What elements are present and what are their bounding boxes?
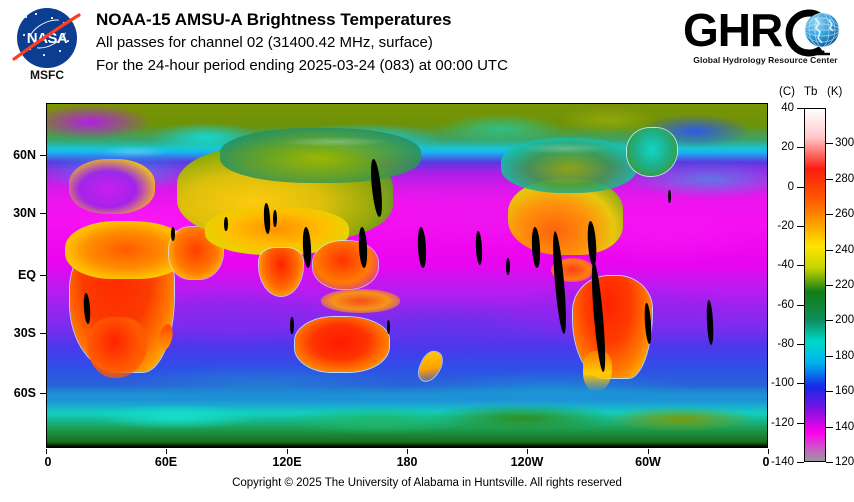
x-axis-tick [648, 449, 649, 454]
colorbar-kelvin-tick-label: 300 [835, 137, 854, 149]
colorbar-celsius-tick-label: -80 [756, 338, 794, 350]
orbital-data-gap [224, 217, 228, 231]
page-title: NOAA-15 AMSU-A Brightness Temperatures [96, 9, 508, 31]
colorbar-kelvin-tick-label: 160 [835, 385, 854, 397]
y-axis-tick [40, 333, 46, 334]
x-axis-label: 180 [397, 455, 418, 469]
header-period-line: For the 24-hour period ending 2025-03-24… [96, 54, 508, 77]
x-axis-label: 120W [511, 455, 544, 469]
colorbar-celsius-tick [797, 383, 804, 384]
colorbar-kelvin-tick [826, 427, 833, 428]
x-axis-label: 120E [272, 455, 301, 469]
y-axis-tick [40, 155, 46, 156]
brightness-temperature-map-page: NASA MSFC NOAA-15 AMSU-A Brightness Temp… [0, 0, 854, 502]
y-axis-label: 30N [0, 206, 36, 220]
colorbar-kelvin-tick-label: 260 [835, 208, 854, 220]
x-axis-tick [166, 449, 167, 454]
orbital-data-gap [273, 210, 277, 227]
colorbar-kelvin-tick [826, 391, 833, 392]
colorbar-kelvin-tick-label: 180 [835, 350, 854, 362]
x-axis-tick [287, 449, 288, 454]
ghrc-logo: GHR Global Hydrology Resource Center [683, 5, 848, 77]
header-block: NOAA-15 AMSU-A Brightness Temperatures A… [96, 9, 508, 77]
colorbar-celsius-tick [797, 108, 804, 109]
y-axis-label: 30S [0, 326, 36, 340]
svg-text:GHR: GHR [683, 5, 783, 56]
colorbar-celsius-tick-label: -120 [756, 417, 794, 429]
colorbar-kelvin-tick [826, 143, 833, 144]
colorbar-celsius-tick-label: -20 [756, 220, 794, 232]
x-axis-label: 0 [45, 455, 52, 469]
ghrc-subtitle: Global Hydrology Resource Center [683, 55, 848, 65]
colorbar-unit-celsius: (C) [779, 86, 795, 98]
colorbar-kelvin-tick-label: 140 [835, 421, 854, 433]
colorbar-kelvin-tick [826, 250, 833, 251]
x-axis-tick [46, 449, 47, 454]
colorbar-kelvin-tick-label: 220 [835, 279, 854, 291]
y-axis-tick [40, 393, 46, 394]
colorbar-kelvin-tick [826, 285, 833, 286]
x-axis-tick [768, 449, 769, 454]
colorbar-gradient[interactable] [804, 108, 826, 462]
world-brightness-temperature-map[interactable] [46, 103, 768, 448]
y-axis-tick [40, 275, 46, 276]
colorbar-kelvin-tick [826, 320, 833, 321]
colorbar-kelvin-tick [826, 179, 833, 180]
x-axis-label: 60W [635, 455, 661, 469]
nasa-swoosh-icon [10, 12, 84, 64]
y-axis-label: 60N [0, 148, 36, 162]
colorbar-celsius-tick [797, 423, 804, 424]
colorbar-celsius-tick [797, 462, 804, 463]
colorbar-kelvin-tick [826, 356, 833, 357]
colorbar-celsius-tick [797, 226, 804, 227]
colorbar-celsius-tick-label: -140 [756, 456, 794, 468]
x-axis-tick [527, 449, 528, 454]
colorbar-quantity-label: Tb [804, 86, 817, 98]
orbital-data-gap [290, 317, 294, 334]
orbital-data-gap [668, 190, 671, 204]
y-axis-tick [40, 213, 46, 214]
colorbar-celsius-tick [797, 187, 804, 188]
ghrc-wordmark-icon: GHR [683, 5, 848, 57]
colorbar-kelvin-tick-label: 280 [835, 173, 854, 185]
colorbar-celsius-tick [797, 147, 804, 148]
colorbar-celsius-tick-label: 40 [756, 102, 794, 114]
colorbar-celsius-tick [797, 305, 804, 306]
colorbar-unit-kelvin: (K) [827, 86, 842, 98]
orbital-data-gap [387, 320, 390, 334]
colorbar-celsius-tick-label: -40 [756, 259, 794, 271]
y-axis-label: EQ [0, 268, 36, 282]
colorbar-kelvin-tick-label: 200 [835, 314, 854, 326]
header-channel-line: All passes for channel 02 (31400.42 MHz,… [96, 31, 508, 54]
colorbar-celsius-tick [797, 344, 804, 345]
colorbar-kelvin-tick [826, 214, 833, 215]
nasa-center-label: MSFC [8, 68, 86, 82]
nasa-logo: NASA MSFC [8, 6, 86, 84]
x-axis-label: 60E [155, 455, 177, 469]
colorbar-celsius-tick-label: -60 [756, 299, 794, 311]
y-axis-label: 60S [0, 386, 36, 400]
colorbar-celsius-tick-label: -100 [756, 377, 794, 389]
colorbar-kelvin-tick-label: 120 [835, 456, 854, 468]
x-axis-tick [407, 449, 408, 454]
colorbar-kelvin-tick-label: 240 [835, 244, 854, 256]
colorbar-celsius-tick [797, 265, 804, 266]
colorbar-celsius-tick-label: 0 [756, 181, 794, 193]
colorbar-kelvin-tick [826, 462, 833, 463]
copyright-notice: Copyright © 2025 The University of Alaba… [0, 477, 854, 489]
map-coastline-overlay [47, 104, 767, 447]
colorbar-celsius-tick-label: 20 [756, 141, 794, 153]
